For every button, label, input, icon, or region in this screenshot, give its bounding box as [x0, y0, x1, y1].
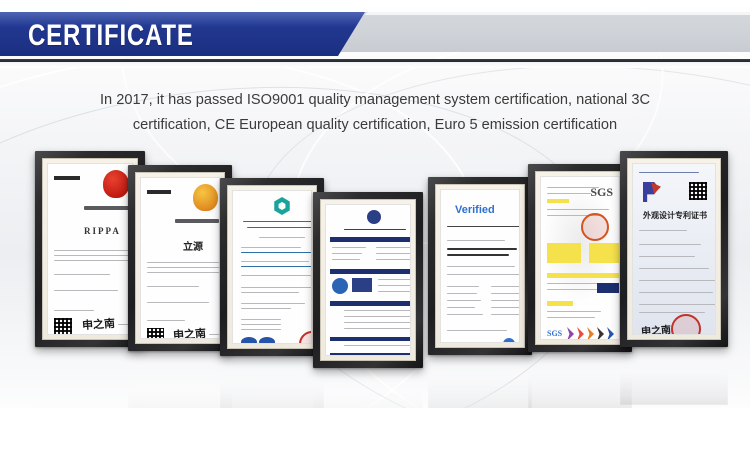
- verified-logo: Verified: [455, 204, 495, 216]
- certificate-frame-sgs[interactable]: SGS SGS: [528, 164, 632, 352]
- intro-text: In 2017, it has passed ISO9001 quality m…: [55, 88, 695, 138]
- frame-mat: Signature: [320, 199, 416, 361]
- page-header: CERTIFICATE: [0, 0, 750, 62]
- certificate-paper-iso9001: [232, 190, 312, 344]
- frame-mat: 外观设计专利证书 申之南: [627, 158, 721, 340]
- frame-mat: RIPPA 申之南: [42, 158, 138, 340]
- certificate-frame-iso9001[interactable]: [220, 178, 324, 356]
- intro-line-1: In 2017, it has passed ISO9001 quality m…: [55, 88, 695, 113]
- certificate-frame-alibaba-verified[interactable]: Verified: [428, 177, 532, 355]
- header-grey-panel: [330, 12, 750, 52]
- certificate-frame-area-certification[interactable]: Signature: [313, 192, 423, 368]
- verify-seal-icon: [503, 338, 515, 343]
- bottom-whitespace: [0, 408, 750, 462]
- certificate-paper-alibaba-verified: Verified: [440, 189, 520, 343]
- certificate-frame-design-patent[interactable]: 外观设计专利证书 申之南: [620, 151, 728, 347]
- cnas-badge-icon: [241, 337, 257, 344]
- seal-icon: [332, 278, 348, 294]
- roundel-icon: [367, 210, 381, 224]
- certificate-paper-trademark-rippa: RIPPA 申之南: [47, 163, 133, 335]
- certificate-frame-trademark-liyuan[interactable]: 立源 申之南: [128, 165, 232, 351]
- intro-line-2: certification, CE European quality certi…: [55, 113, 695, 138]
- frame-mat: SGS SGS: [535, 171, 625, 345]
- certificate-page: CERTIFICATE In 2017, it has passed ISO90…: [0, 0, 750, 462]
- certificate-paper-sgs: SGS SGS: [540, 176, 620, 340]
- certificate-paper-design-patent: 外观设计专利证书 申之南: [632, 163, 716, 335]
- certificate-paper-trademark-liyuan: 立源 申之南: [140, 177, 220, 339]
- header-divider-light: [0, 62, 750, 68]
- certificate-gallery: RIPPA 申之南 立: [0, 140, 750, 380]
- frame-mat: Verified: [435, 184, 525, 348]
- certificate-paper-area-certification: Signature: [325, 204, 411, 356]
- frame-mat: [227, 185, 317, 349]
- page-title: CERTIFICATE: [28, 19, 194, 53]
- iaf-badge-icon: [259, 337, 275, 344]
- header-grey-highlight: [340, 12, 750, 15]
- frame-mat: 立源 申之南: [135, 172, 225, 344]
